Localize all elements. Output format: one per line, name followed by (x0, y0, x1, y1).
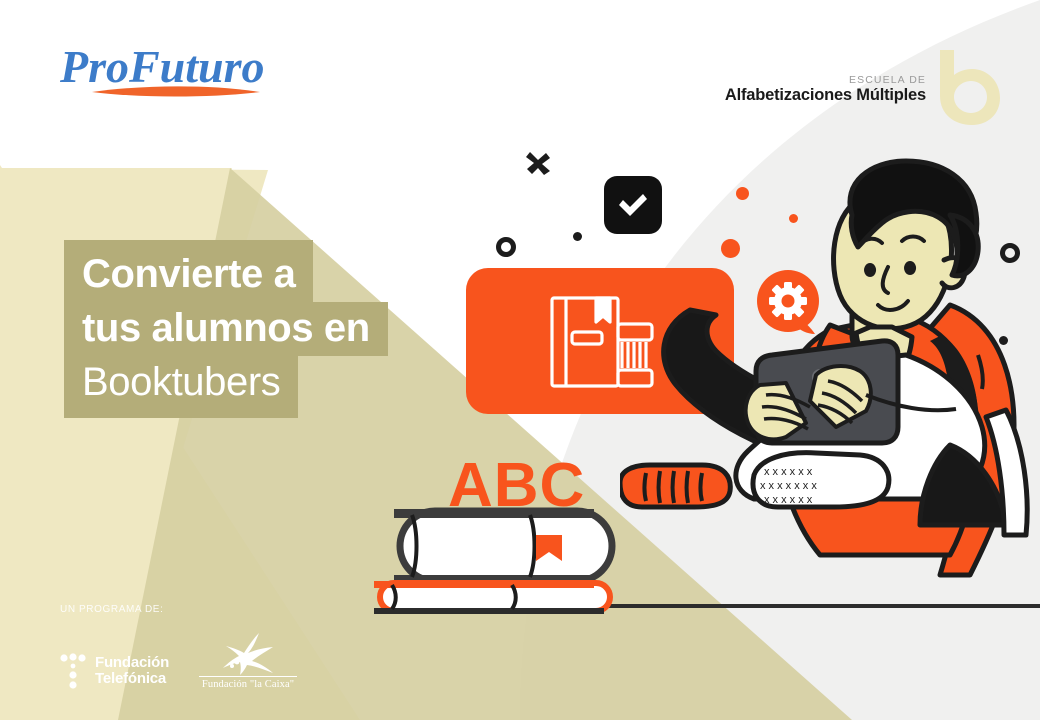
svg-text:x x x x x x: x x x x x x (764, 494, 813, 506)
footer-logos: Fundación Telefónica Fundación "la Caixa… (60, 631, 480, 690)
profuturo-logo-mark: ProFuturo (60, 40, 300, 102)
stacked-books-illustration (344, 505, 644, 615)
telefonica-line-1: Fundación (95, 655, 169, 671)
svg-text:x x x x x x x: x x x x x x x (760, 480, 817, 492)
telefonica-line-2: Telefónica (95, 671, 169, 687)
caixa-wordmark: Fundación "la Caixa" (199, 676, 297, 690)
page-title: Convierte a tus alumnos en Booktubers (64, 240, 388, 418)
escuela-supertitle: ESCUELA DE (725, 74, 926, 86)
fundacion-la-caixa-logo: Fundación "la Caixa" (199, 631, 297, 690)
dot-decor-small-black (573, 232, 582, 241)
footer: UN PROGRAMA DE: Fundación Telefónica (60, 604, 480, 690)
headline-line-3: Booktubers (64, 356, 298, 418)
caixa-star-icon (215, 631, 281, 675)
escuela-title: Alfabetizaciones Múltiples (725, 86, 926, 105)
footer-kicker: UN PROGRAMA DE: (60, 604, 480, 615)
escuela-lockup: ESCUELA DE Alfabetizaciones Múltiples (725, 50, 1002, 128)
svg-text:x x x x x x: x x x x x x (764, 466, 813, 478)
escuela-b-logo (934, 48, 1002, 126)
telefonica-dots-icon (60, 652, 86, 690)
profuturo-logo: ProFuturo (60, 40, 300, 102)
profuturo-logo-text: ProFuturo (60, 41, 265, 92)
student-with-laptop-illustration: x x x x x x x x x x x x x x x x x x x (620, 155, 1040, 610)
x-mark-decor (524, 148, 554, 178)
ring-decor-left (496, 237, 516, 257)
headline-line-1: Convierte a (64, 240, 313, 302)
escuela-text-block: ESCUELA DE Alfabetizaciones Múltiples (725, 74, 934, 105)
telefonica-wordmark: Fundación Telefónica (95, 655, 169, 687)
fundacion-telefonica-logo: Fundación Telefónica (60, 652, 169, 690)
slide-canvas: ProFuturo ESCUELA DE Alfabetizaciones Mú… (0, 0, 1040, 720)
headline-line-2: tus alumnos en (64, 302, 388, 356)
